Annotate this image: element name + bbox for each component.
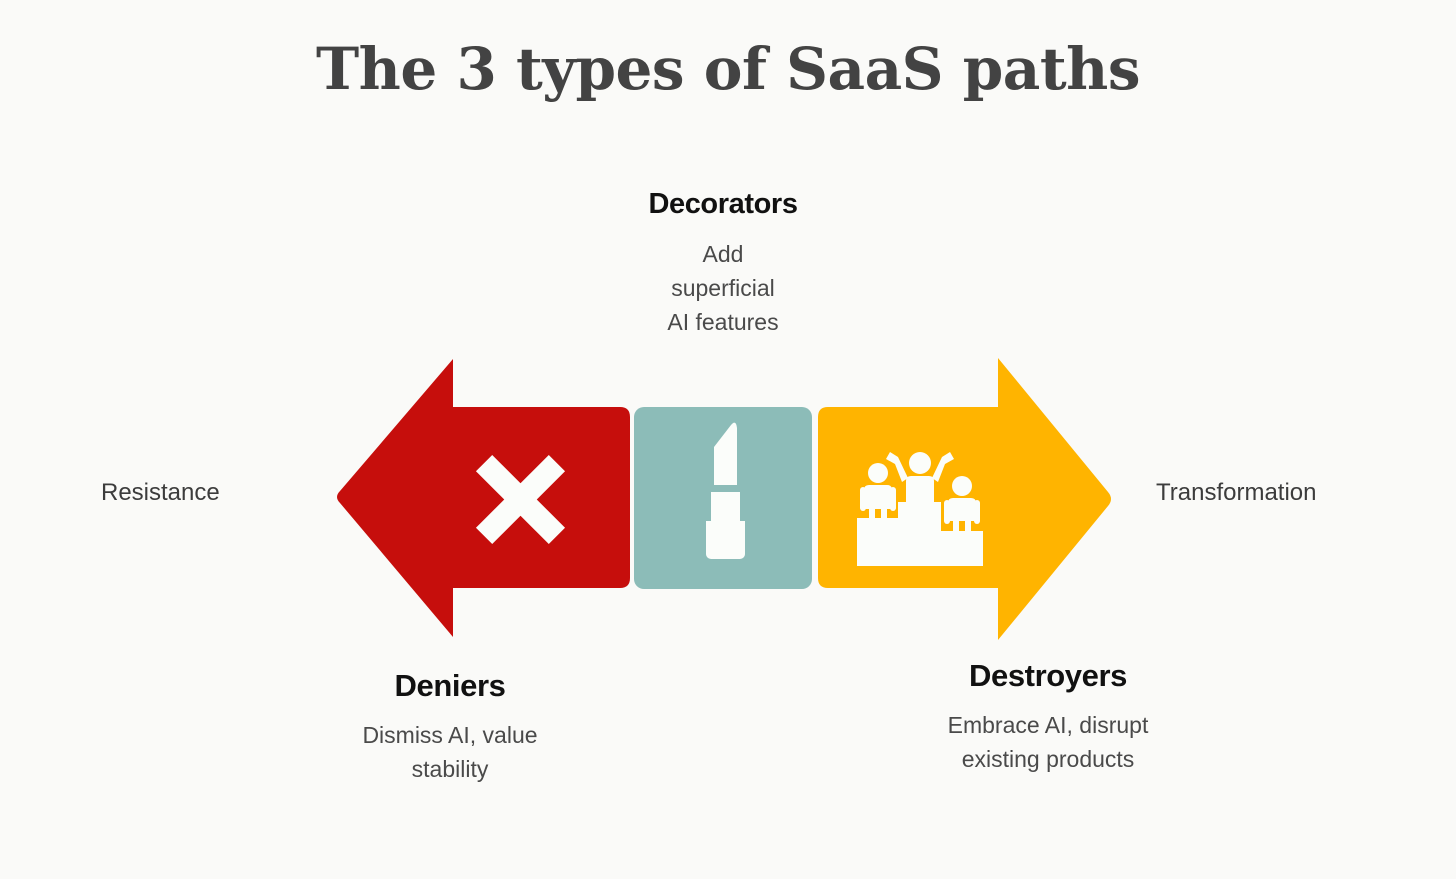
destroyers-arrow[interactable]	[818, 358, 1111, 640]
decorators-description: Add superficial AI features	[573, 237, 873, 339]
diagram-band	[0, 0, 1456, 879]
destroyers-description-line-2: existing products	[878, 742, 1218, 776]
deniers-description-line-2: stability	[280, 752, 620, 786]
slide-canvas: The 3 types of SaaS paths	[0, 0, 1456, 879]
decorators-square[interactable]	[634, 407, 812, 589]
decorators-heading: Decorators	[573, 188, 873, 221]
deniers-label-group: Deniers Dismiss AI, value stability	[280, 668, 620, 786]
destroyers-heading: Destroyers	[878, 658, 1218, 694]
destroyers-description-line-1: Embrace AI, disrupt	[878, 708, 1218, 742]
decorators-label-group: Decorators Add superficial AI features	[573, 188, 873, 339]
deniers-heading: Deniers	[280, 668, 620, 704]
decorators-description-line-2: superficial	[573, 271, 873, 305]
decorators-description-line-3: AI features	[573, 305, 873, 339]
deniers-description: Dismiss AI, value stability	[280, 718, 620, 786]
axis-label-transformation: Transformation	[1156, 479, 1317, 507]
deniers-description-line-1: Dismiss AI, value	[280, 718, 620, 752]
decorators-description-line-1: Add	[573, 237, 873, 271]
destroyers-label-group: Destroyers Embrace AI, disrupt existing …	[878, 658, 1218, 776]
deniers-arrow[interactable]	[337, 359, 630, 637]
page-title: The 3 types of SaaS paths	[0, 38, 1456, 102]
axis-label-resistance: Resistance	[101, 479, 220, 507]
destroyers-description: Embrace AI, disrupt existing products	[878, 708, 1218, 776]
